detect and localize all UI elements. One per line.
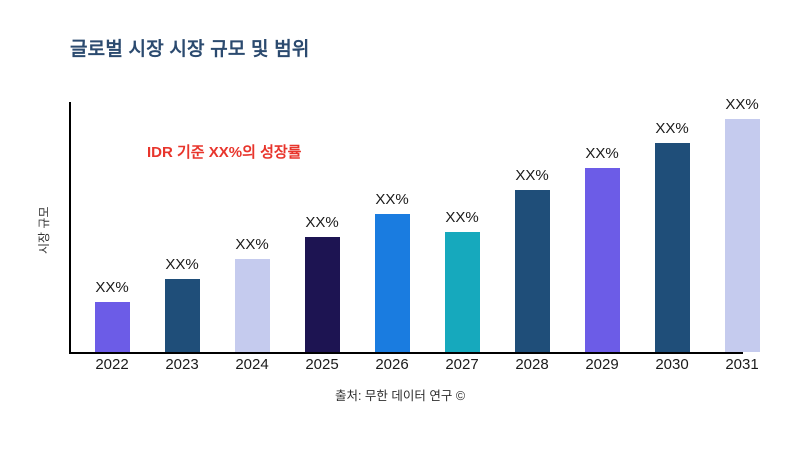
bar-2030[interactable] <box>655 143 690 352</box>
bar-2024[interactable] <box>235 259 270 352</box>
x-axis-line <box>69 352 743 354</box>
bar-value-label: XX% <box>95 279 128 296</box>
bar-2025[interactable] <box>305 237 340 352</box>
bar-group: XX% <box>305 102 340 352</box>
bar-2031[interactable] <box>725 119 760 352</box>
bar-value-label: XX% <box>235 236 268 253</box>
bar-2022[interactable] <box>95 302 130 352</box>
bar-value-label: XX% <box>165 256 198 273</box>
bar-2023[interactable] <box>165 279 200 352</box>
bar-value-label: XX% <box>445 209 478 226</box>
x-tick-2023: 2023 <box>147 356 217 373</box>
bar-value-label: XX% <box>725 96 758 113</box>
x-tick-2028: 2028 <box>497 356 567 373</box>
x-tick-2031: 2031 <box>707 356 777 373</box>
bar-value-label: XX% <box>585 145 618 162</box>
bar-group: XX% <box>165 102 200 352</box>
bar-group: XX% <box>585 102 620 352</box>
x-tick-2030: 2030 <box>637 356 707 373</box>
bar-value-label: XX% <box>375 191 408 208</box>
bar-value-label: XX% <box>305 214 338 231</box>
plot-area: 시장 규모 XX%XX%XX%XX%XX%XX%XX%XX%XX%XX% <box>69 102 769 352</box>
bar-group: XX% <box>445 102 480 352</box>
page-title: 글로벌 시장 시장 규모 및 범위 <box>70 34 310 61</box>
x-tick-2022: 2022 <box>77 356 147 373</box>
x-tick-2027: 2027 <box>427 356 497 373</box>
bar-group: XX% <box>95 102 130 352</box>
bars-layer: XX%XX%XX%XX%XX%XX%XX%XX%XX%XX% <box>69 102 769 352</box>
bar-value-label: XX% <box>515 167 548 184</box>
bar-2029[interactable] <box>585 168 620 352</box>
x-tick-2024: 2024 <box>217 356 287 373</box>
x-axis-tick-labels: 2022202320242025202620272028202920302031 <box>69 356 769 380</box>
bar-2026[interactable] <box>375 214 410 352</box>
bar-group: XX% <box>375 102 410 352</box>
bar-value-label: XX% <box>655 120 688 137</box>
bar-group: XX% <box>235 102 270 352</box>
bar-2027[interactable] <box>445 232 480 352</box>
bar-group: XX% <box>515 102 550 352</box>
x-tick-2026: 2026 <box>357 356 427 373</box>
y-axis-label: 시장 규모 <box>35 134 52 254</box>
bar-chart: 글로벌 시장 시장 규모 및 범위 IDR 기준 XX%의 성장률 시장 규모 … <box>0 0 800 450</box>
source-note: 출처: 무한 데이터 연구 © <box>0 385 800 404</box>
bar-group: XX% <box>655 102 690 352</box>
bar-2028[interactable] <box>515 190 550 352</box>
bar-group: XX% <box>725 102 760 352</box>
x-tick-2029: 2029 <box>567 356 637 373</box>
x-tick-2025: 2025 <box>287 356 357 373</box>
